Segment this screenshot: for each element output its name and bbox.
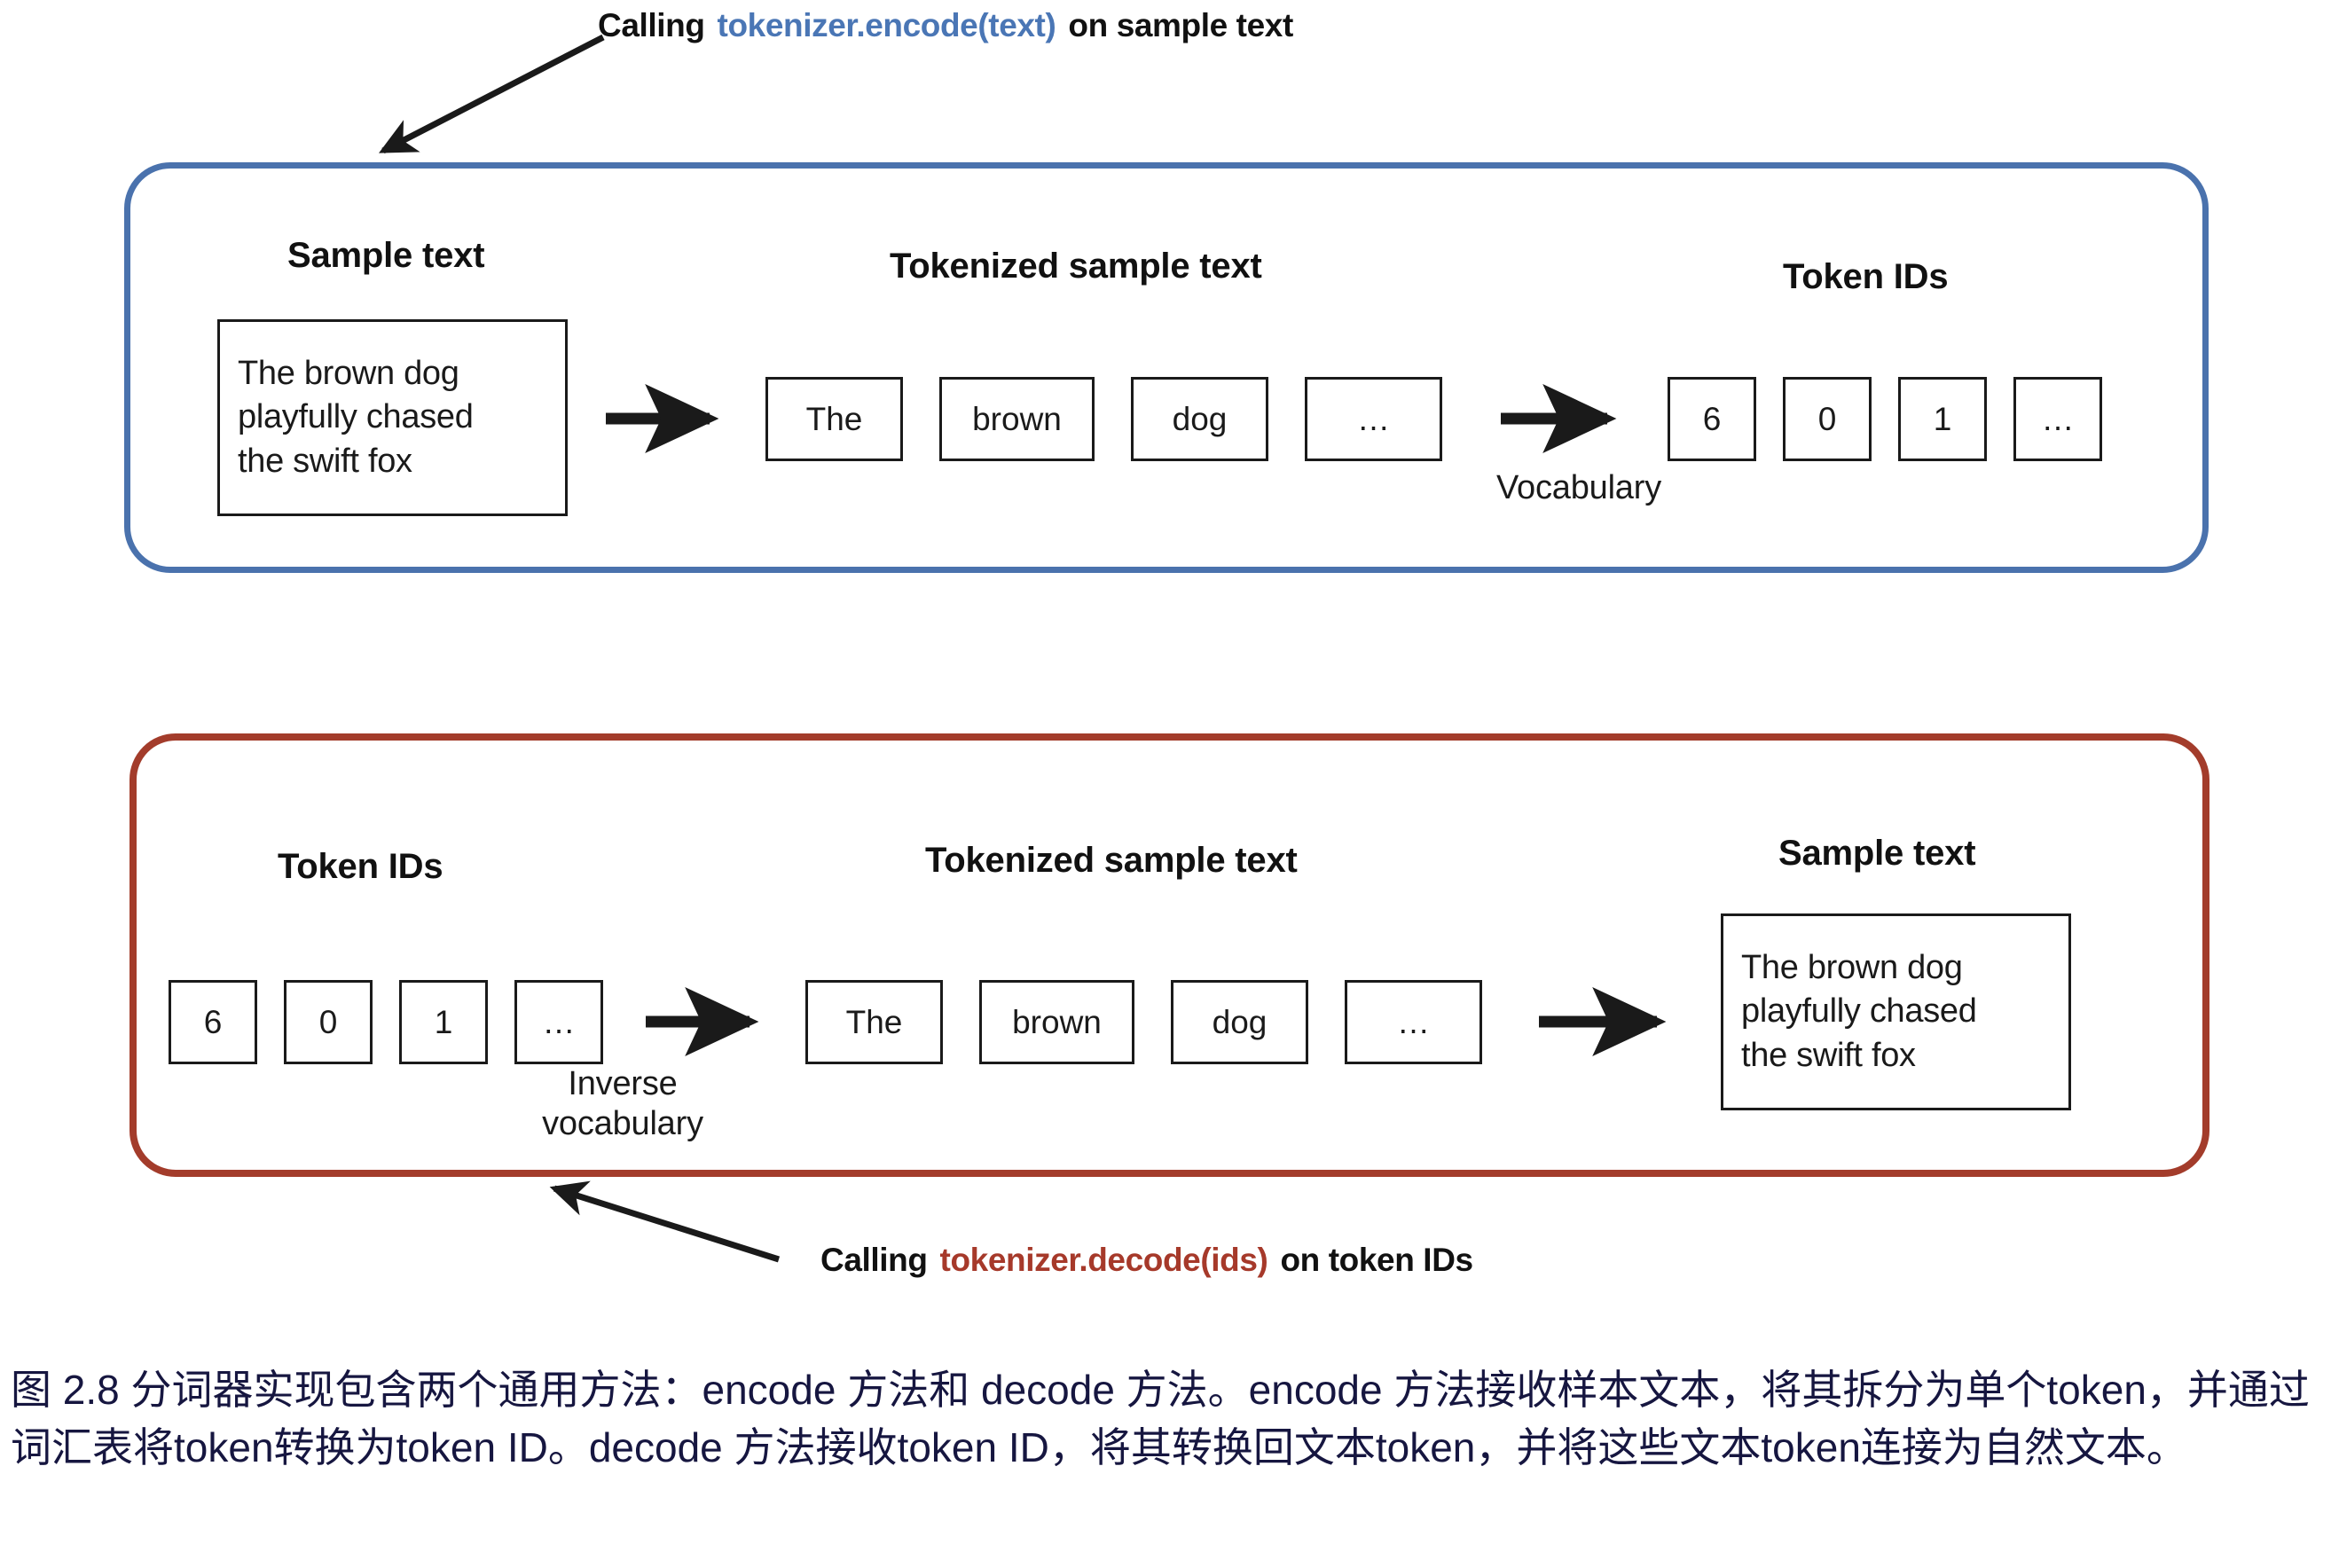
decode-token-id-box-3: … bbox=[514, 980, 603, 1064]
encode-heading-token-ids: Token IDs bbox=[1783, 257, 1948, 297]
decode-token-box-2: dog bbox=[1171, 980, 1308, 1064]
encode-annotation-code: tokenizer.encode(text) bbox=[718, 7, 1056, 43]
figure-caption: 图 2.8 分词器实现包含两个通用方法：encode 方法和 decode 方法… bbox=[11, 1361, 2329, 1478]
encode-token-id-box-1: 0 bbox=[1783, 377, 1872, 461]
decode-heading-sample-text: Sample text bbox=[1778, 834, 1975, 874]
encode-annotation-suffix: on sample text bbox=[1068, 7, 1292, 43]
decode-token-id-box-2: 1 bbox=[399, 980, 488, 1064]
decode-annotation-code: tokenizer.decode(ids) bbox=[940, 1242, 1268, 1278]
decode-annotation-arrow bbox=[554, 1188, 779, 1259]
figure-canvas: Callingtokenizer.encode(text)on sample t… bbox=[0, 0, 2331, 1568]
encode-token-id-box-3: … bbox=[2013, 377, 2102, 461]
decode-heading-token-ids: Token IDs bbox=[278, 847, 443, 887]
decode-annotation: Callingtokenizer.decode(ids)on token IDs bbox=[820, 1242, 1473, 1279]
encode-heading-sample-text: Sample text bbox=[287, 236, 484, 276]
encode-vocabulary-label: Vocabulary bbox=[1437, 468, 1721, 508]
encode-token-box-1: brown bbox=[939, 377, 1095, 461]
encode-heading-tokenized: Tokenized sample text bbox=[890, 247, 1262, 286]
decode-token-id-box-0: 6 bbox=[169, 980, 257, 1064]
encode-token-box-3: … bbox=[1305, 377, 1442, 461]
encode-token-id-box-0: 6 bbox=[1668, 377, 1756, 461]
encode-annotation-arrow bbox=[383, 37, 603, 151]
encode-token-box-2: dog bbox=[1131, 377, 1268, 461]
decode-annotation-prefix: Calling bbox=[820, 1242, 928, 1278]
decode-token-box-3: … bbox=[1345, 980, 1482, 1064]
encode-annotation: Callingtokenizer.encode(text)on sample t… bbox=[598, 7, 1293, 44]
encode-token-id-box-2: 1 bbox=[1898, 377, 1987, 461]
decode-sample-text-box: The brown dog playfully chased the swift… bbox=[1721, 913, 2071, 1110]
decode-inverse-vocabulary-label: Inverse vocabulary bbox=[481, 1064, 765, 1144]
encode-sample-text-box: The brown dog playfully chased the swift… bbox=[217, 319, 568, 516]
decode-token-box-1: brown bbox=[979, 980, 1134, 1064]
encode-token-box-0: The bbox=[765, 377, 903, 461]
decode-annotation-suffix: on token IDs bbox=[1280, 1242, 1472, 1278]
decode-token-box-0: The bbox=[805, 980, 943, 1064]
decode-token-id-box-1: 0 bbox=[284, 980, 373, 1064]
encode-annotation-prefix: Calling bbox=[598, 7, 705, 43]
decode-heading-tokenized: Tokenized sample text bbox=[925, 841, 1298, 881]
